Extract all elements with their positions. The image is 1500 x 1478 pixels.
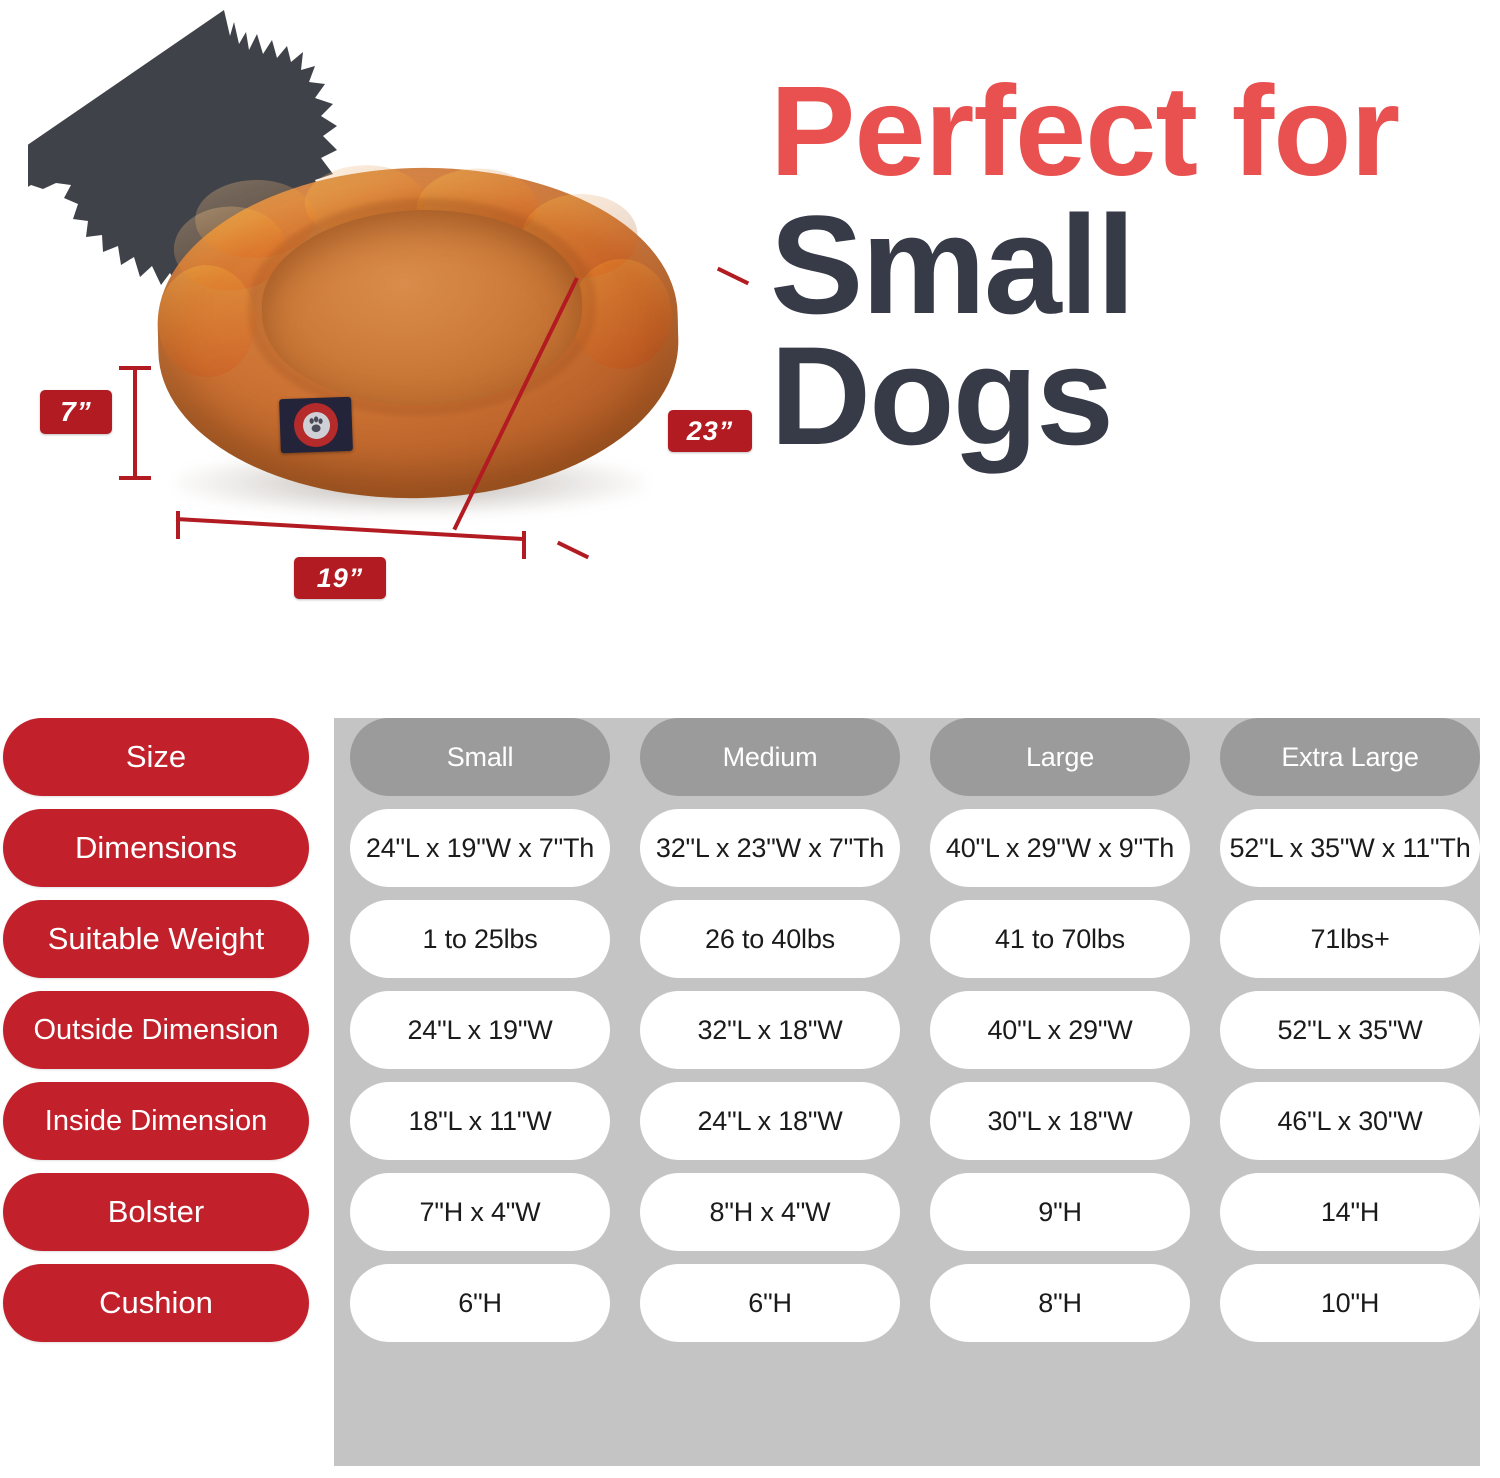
dimension-badge-height: 7”: [40, 390, 112, 434]
headline-block: Perfect for Small Dogs: [770, 72, 1500, 463]
cell-inside-dimension-small: 18"L x 11"W: [350, 1082, 610, 1160]
row-label-bolster: Bolster: [3, 1173, 309, 1251]
table-row: 24"L x 19"W 32"L x 18"W 40"L x 29"W 52"L…: [350, 991, 1480, 1069]
cell-inside-dimension-large: 30"L x 18"W: [930, 1082, 1190, 1160]
column-header-large: Large: [930, 718, 1190, 796]
headline-line-3: Dogs: [770, 329, 1500, 463]
product-infographic: 7” 19” 23” Perfect for Small Dogs Size D…: [0, 0, 1500, 1478]
table-row: 7"H x 4"W 8"H x 4"W 9"H 14"H: [350, 1173, 1480, 1251]
cell-inside-dimension-extra-large: 46"L x 30"W: [1220, 1082, 1480, 1160]
height-rule-cap-top: [119, 366, 151, 370]
spec-row-label-column: Size Dimensions Suitable Weight Outside …: [3, 718, 309, 1355]
row-label-cushion: Cushion: [3, 1264, 309, 1342]
column-header-extra-large: Extra Large: [1220, 718, 1480, 796]
cell-cushion-medium: 6"H: [640, 1264, 900, 1342]
dimension-badge-length: 23”: [668, 410, 752, 452]
headline-line-2: Small: [770, 198, 1500, 332]
row-label-outside-dimension: Outside Dimension: [3, 991, 309, 1069]
column-header-small: Small: [350, 718, 610, 796]
hero-section: 7” 19” 23” Perfect for Small Dogs: [0, 0, 1500, 700]
cell-dimensions-large: 40"L x 29"W x 9"Th: [930, 809, 1190, 887]
table-row: 6"H 6"H 8"H 10"H: [350, 1264, 1480, 1342]
cell-suitable-weight-medium: 26 to 40lbs: [640, 900, 900, 978]
width-rule-cap-right: [522, 531, 526, 559]
row-label-suitable-weight: Suitable Weight: [3, 900, 309, 978]
cell-suitable-weight-small: 1 to 25lbs: [350, 900, 610, 978]
table-row: 1 to 25lbs 26 to 40lbs 41 to 70lbs 71lbs…: [350, 900, 1480, 978]
cell-outside-dimension-extra-large: 52"L x 35"W: [1220, 991, 1480, 1069]
cell-dimensions-extra-large: 52"L x 35"W x 11"Th: [1220, 809, 1480, 887]
dimension-badge-width: 19”: [294, 557, 386, 599]
brand-logo-tag: [279, 397, 353, 453]
cell-outside-dimension-small: 24"L x 19"W: [350, 991, 610, 1069]
table-row: 18"L x 11"W 24"L x 18"W 30"L x 18"W 46"L…: [350, 1082, 1480, 1160]
cell-cushion-small: 6"H: [350, 1264, 610, 1342]
row-label-inside-dimension: Inside Dimension: [3, 1082, 309, 1160]
column-header-medium: Medium: [640, 718, 900, 796]
cell-bolster-large: 9"H: [930, 1173, 1190, 1251]
cell-dimensions-small: 24"L x 19"W x 7"Th: [350, 809, 610, 887]
cell-outside-dimension-medium: 32"L x 18"W: [640, 991, 900, 1069]
cell-cushion-extra-large: 10"H: [1220, 1264, 1480, 1342]
width-rule-cap-left: [176, 511, 180, 539]
spec-value-grid: Small Medium Large Extra Large 24"L x 19…: [350, 718, 1480, 1355]
cell-bolster-medium: 8"H x 4"W: [640, 1173, 900, 1251]
table-header-row: Small Medium Large Extra Large: [350, 718, 1480, 796]
cell-bolster-small: 7"H x 4"W: [350, 1173, 610, 1251]
headline-line-1: Perfect for: [770, 72, 1500, 192]
height-rule-line: [133, 366, 137, 480]
row-label-dimensions: Dimensions: [3, 809, 309, 887]
spec-table-section: Size Dimensions Suitable Weight Outside …: [0, 700, 1500, 1478]
cell-outside-dimension-large: 40"L x 29"W: [930, 991, 1190, 1069]
paw-print-icon: [306, 415, 327, 436]
cell-bolster-extra-large: 14"H: [1220, 1173, 1480, 1251]
cell-suitable-weight-large: 41 to 70lbs: [930, 900, 1190, 978]
length-rule-cap-top: [717, 267, 749, 285]
cell-cushion-large: 8"H: [930, 1264, 1190, 1342]
table-row: 24"L x 19"W x 7"Th 32"L x 23"W x 7"Th 40…: [350, 809, 1480, 887]
cell-dimensions-medium: 32"L x 23"W x 7"Th: [640, 809, 900, 887]
cell-suitable-weight-extra-large: 71lbs+: [1220, 900, 1480, 978]
row-label-size: Size: [3, 718, 309, 796]
cell-inside-dimension-medium: 24"L x 18"W: [640, 1082, 900, 1160]
height-rule-cap-bottom: [119, 476, 151, 480]
dog-bed-product-image: [152, 150, 692, 550]
